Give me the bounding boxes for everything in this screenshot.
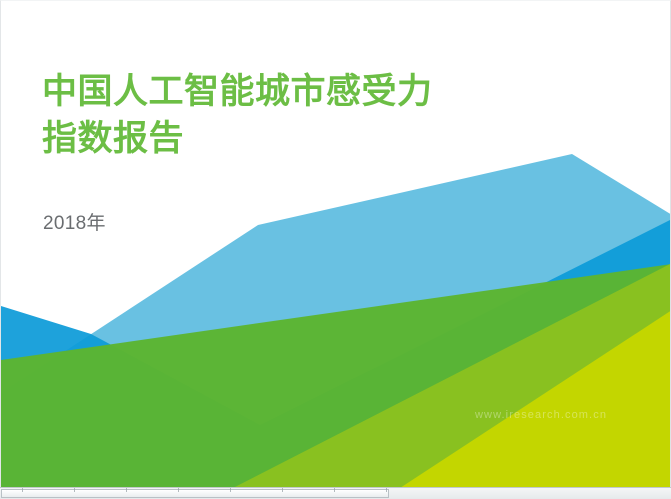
subtitle-year: 2018年	[43, 212, 106, 236]
slide-page: 中国人工智能城市感受力 指数报告 2018年 www.iresearch.com…	[0, 0, 671, 487]
ruler-tick	[230, 488, 231, 492]
ruler-tick	[126, 488, 127, 492]
horizontal-scrollbar-thumb[interactable]	[1, 489, 389, 498]
watermark-text: www.iresearch.com.cn	[475, 408, 607, 422]
slide-viewport: 中国人工智能城市感受力 指数报告 2018年 www.iresearch.com…	[0, 0, 671, 499]
ruler-tick	[386, 488, 387, 492]
ruler-tick	[334, 488, 335, 492]
title-line-1: 中国人工智能城市感受力	[42, 68, 602, 115]
page-title: 中国人工智能城市感受力 指数报告	[42, 68, 602, 162]
ruler-tick	[178, 488, 179, 492]
horizontal-scrollbar-track[interactable]	[0, 488, 671, 499]
title-line-2: 指数报告	[42, 115, 602, 162]
ruler-tick	[282, 488, 283, 492]
ruler-tick	[74, 488, 75, 492]
bottom-chrome	[0, 487, 671, 499]
ruler-tick	[22, 488, 23, 492]
